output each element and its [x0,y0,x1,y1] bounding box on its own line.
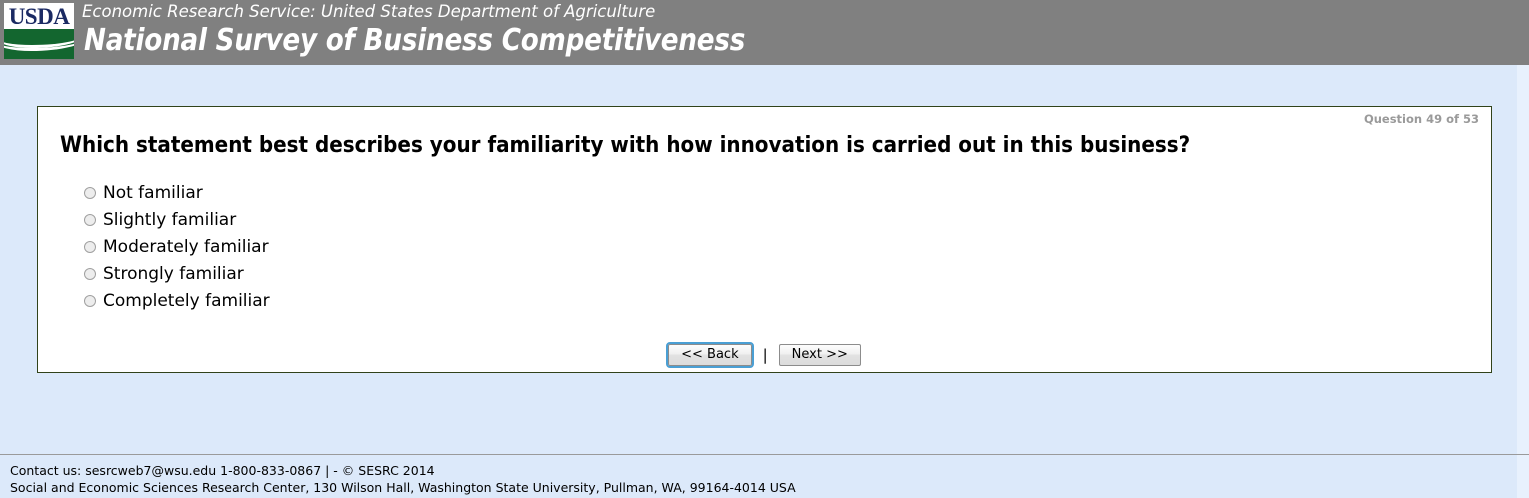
option-row-slightly-familiar[interactable]: Slightly familiar [84,206,784,233]
usda-logo-swoosh-lower [4,29,74,51]
agency-subtitle: Economic Research Service: United States… [82,1,655,23]
right-edge-strip [1517,65,1529,498]
question-counter: Question 49 of 53 [1364,112,1479,126]
option-label[interactable]: Slightly familiar [103,210,236,230]
footer-divider [0,454,1529,455]
radio-button-icon[interactable] [84,214,96,226]
site-header: USDA Economic Research Service: United S… [0,0,1529,65]
option-label[interactable]: Not familiar [103,183,203,203]
option-row-completely-familiar[interactable]: Completely familiar [84,287,784,314]
option-label[interactable]: Moderately familiar [103,237,269,257]
footer-contact-line: Contact us: sesrcweb7@wsu.edu 1-800-833-… [10,462,1510,479]
survey-title: National Survey of Business Competitiven… [84,22,745,60]
footer-address-line: Social and Economic Sciences Research Ce… [10,479,1510,496]
radio-button-icon[interactable] [84,187,96,199]
option-row-strongly-familiar[interactable]: Strongly familiar [84,260,784,287]
navigation-bar: << Back | Next >> [38,344,1491,366]
radio-button-icon[interactable] [84,241,96,253]
option-row-not-familiar[interactable]: Not familiar [84,179,784,206]
question-panel: Question 49 of 53 Which statement best d… [37,106,1492,373]
option-row-moderately-familiar[interactable]: Moderately familiar [84,233,784,260]
radio-button-icon[interactable] [84,268,96,280]
usda-logo: USDA [4,3,74,59]
option-label[interactable]: Strongly familiar [103,264,244,284]
next-button[interactable]: Next >> [779,344,861,366]
answer-options-group: Not familiar Slightly familiar Moderatel… [84,179,784,314]
nav-separator: | [763,346,768,364]
option-label[interactable]: Completely familiar [103,291,270,311]
usda-logo-field [4,29,74,59]
back-button[interactable]: << Back [668,344,751,366]
usda-wordmark: USDA [4,3,74,30]
site-footer: Contact us: sesrcweb7@wsu.edu 1-800-833-… [10,462,1510,496]
question-prompt: Which statement best describes your fami… [60,131,1190,159]
radio-button-icon[interactable] [84,295,96,307]
